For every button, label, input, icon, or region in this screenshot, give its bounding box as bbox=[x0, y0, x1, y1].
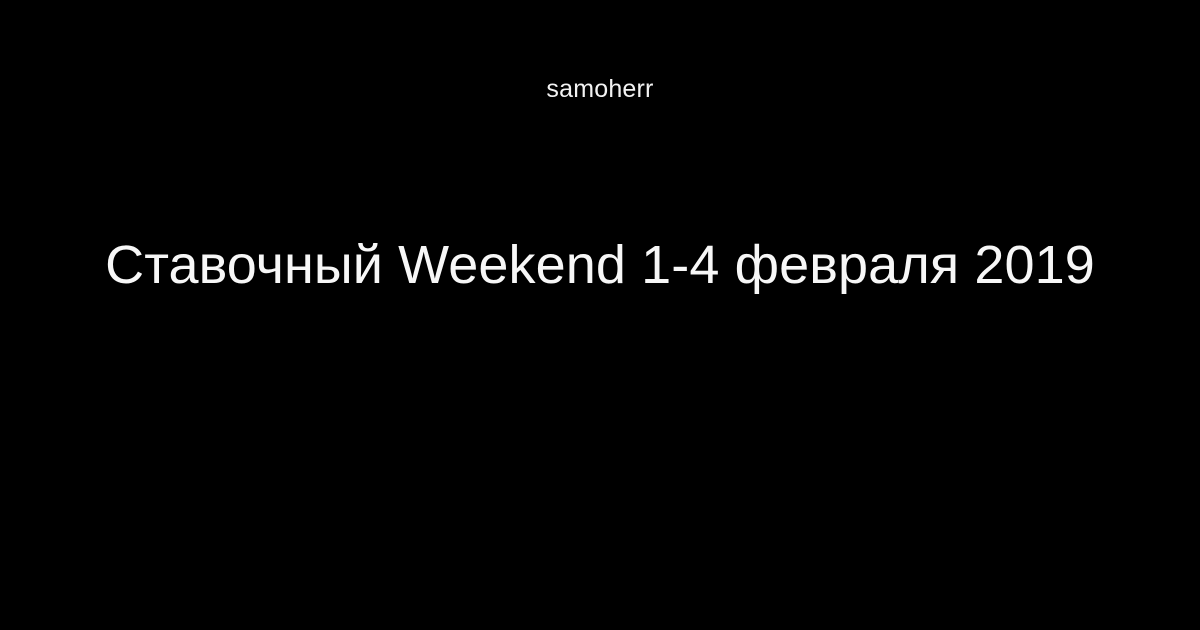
title-block: Ставочный Weekend 1-4 февраля 2019 bbox=[100, 232, 1100, 299]
site-name: samoherr bbox=[0, 74, 1200, 104]
page-title: Ставочный Weekend 1-4 февраля 2019 bbox=[100, 232, 1100, 299]
share-card: samoherr Ставочный Weekend 1-4 февраля 2… bbox=[0, 0, 1200, 630]
